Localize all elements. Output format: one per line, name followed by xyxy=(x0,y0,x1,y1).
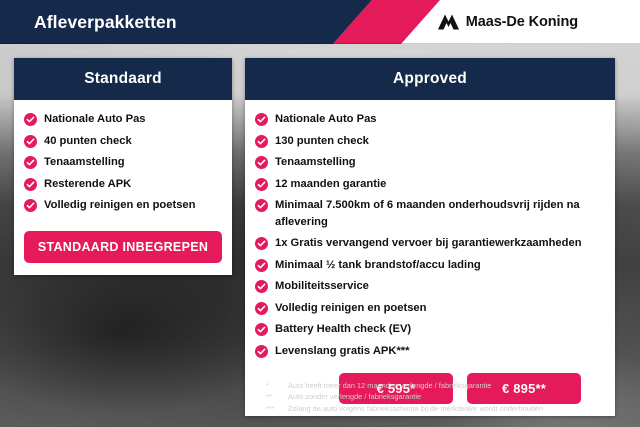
feature-label: 1x Gratis vervangend vervoer bij garanti… xyxy=(275,235,582,252)
feature-label: 130 punten check xyxy=(275,133,369,150)
list-item: Battery Health check (EV) xyxy=(255,321,605,338)
feature-label: Minimaal ½ tank brandstof/accu lading xyxy=(275,257,481,274)
maas-de-koning-logo-icon xyxy=(437,13,459,31)
footnote-marker: * xyxy=(266,380,288,391)
footnote-item: *** Zolang de auto volgens fabrieksschem… xyxy=(266,403,616,414)
check-circle-icon xyxy=(255,345,268,358)
footnote-text: Auto heeft meer dan 12 maanden verlengde… xyxy=(288,380,491,391)
feature-label: 40 punten check xyxy=(44,133,132,150)
footnote-item: ** Auto zonder verlengde / fabrieksgaran… xyxy=(266,391,616,402)
check-circle-icon xyxy=(255,259,268,272)
feature-label: 12 maanden garantie xyxy=(275,176,386,193)
footnote-marker: ** xyxy=(266,391,288,402)
brand-lockup: Maas-De Koning xyxy=(437,0,578,44)
list-item: Minimaal ½ tank brandstof/accu lading xyxy=(255,257,605,274)
list-item: 12 maanden garantie xyxy=(255,176,605,193)
list-item: Nationale Auto Pas xyxy=(24,111,222,128)
check-circle-icon xyxy=(255,178,268,191)
feature-list-approved: Nationale Auto Pas 130 punten check Tena… xyxy=(255,111,605,359)
check-circle-icon xyxy=(24,199,37,212)
feature-label: Levenslang gratis APK*** xyxy=(275,343,410,360)
feature-label: Nationale Auto Pas xyxy=(44,111,146,128)
check-circle-icon xyxy=(255,156,268,169)
check-circle-icon xyxy=(24,178,37,191)
feature-label: Minimaal 7.500km of 6 maanden onderhouds… xyxy=(275,197,605,230)
feature-label: Volledig reinigen en poetsen xyxy=(44,197,195,214)
check-circle-icon xyxy=(255,135,268,148)
page-title: Afleverpakketten xyxy=(34,0,177,44)
check-circle-icon xyxy=(255,237,268,250)
check-circle-icon xyxy=(255,302,268,315)
feature-label: Battery Health check (EV) xyxy=(275,321,411,338)
standaard-inbegrepen-button[interactable]: STANDAARD INBEGREPEN xyxy=(24,231,222,263)
check-circle-icon xyxy=(24,135,37,148)
list-item: Volledig reinigen en poetsen xyxy=(24,197,222,214)
brand-name: Maas-De Koning xyxy=(466,14,578,30)
feature-list-standaard: Nationale Auto Pas 40 punten check Tenaa… xyxy=(24,111,222,214)
list-item: Minimaal 7.500km of 6 maanden onderhouds… xyxy=(255,197,605,230)
list-item: Mobiliteitsservice xyxy=(255,278,605,295)
card-body-standaard: Nationale Auto Pas 40 punten check Tenaa… xyxy=(14,100,232,275)
page-header: Afleverpakketten Maas-De Koning xyxy=(0,0,640,44)
check-circle-icon xyxy=(255,199,268,212)
check-circle-icon xyxy=(24,113,37,126)
card-body-approved: Nationale Auto Pas 130 punten check Tena… xyxy=(245,100,615,416)
list-item: 40 punten check xyxy=(24,133,222,150)
list-item: Tenaamstelling xyxy=(24,154,222,171)
feature-label: Resterende APK xyxy=(44,176,131,193)
footnote-text: Auto zonder verlengde / fabrieksgarantie xyxy=(288,391,421,402)
check-circle-icon xyxy=(255,323,268,336)
check-circle-icon xyxy=(255,280,268,293)
feature-label: Nationale Auto Pas xyxy=(275,111,377,128)
card-title-approved: Approved xyxy=(245,58,615,100)
footnotes: * Auto heeft meer dan 12 maanden verleng… xyxy=(266,380,616,414)
footnote-text: Zolang de auto volgens fabrieksschema bi… xyxy=(288,403,543,414)
package-card-standaard: Standaard Nationale Auto Pas 40 punten c… xyxy=(14,58,232,275)
card-title-standaard: Standaard xyxy=(14,58,232,100)
footnote-marker: *** xyxy=(266,403,288,414)
feature-label: Volledig reinigen en poetsen xyxy=(275,300,426,317)
header-divider xyxy=(0,43,640,44)
footnote-item: * Auto heeft meer dan 12 maanden verleng… xyxy=(266,380,616,391)
list-item: 130 punten check xyxy=(255,133,605,150)
list-item: Nationale Auto Pas xyxy=(255,111,605,128)
feature-label: Mobiliteitsservice xyxy=(275,278,369,295)
list-item: Resterende APK xyxy=(24,176,222,193)
list-item: Tenaamstelling xyxy=(255,154,605,171)
list-item: 1x Gratis vervangend vervoer bij garanti… xyxy=(255,235,605,252)
afleverpakketten-infographic: Afleverpakketten Maas-De Koning Standaar… xyxy=(0,0,640,427)
check-circle-icon xyxy=(255,113,268,126)
package-card-approved: Approved Nationale Auto Pas 130 punten c… xyxy=(245,58,615,416)
feature-label: Tenaamstelling xyxy=(44,154,125,171)
feature-label: Tenaamstelling xyxy=(275,154,356,171)
list-item: Levenslang gratis APK*** xyxy=(255,343,605,360)
list-item: Volledig reinigen en poetsen xyxy=(255,300,605,317)
check-circle-icon xyxy=(24,156,37,169)
